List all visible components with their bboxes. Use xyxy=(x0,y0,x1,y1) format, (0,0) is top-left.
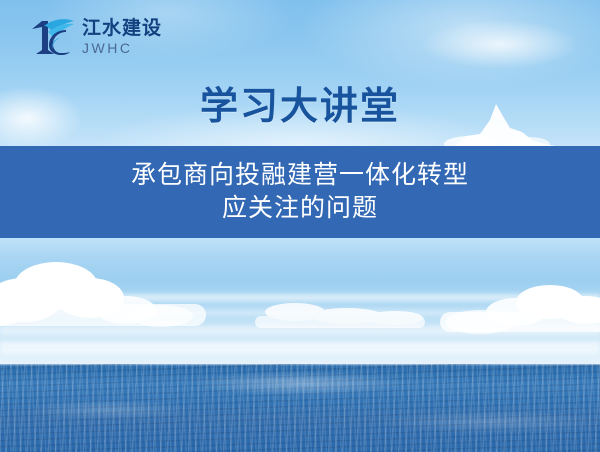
lower-sky-background xyxy=(0,238,600,364)
water-sun-glint xyxy=(0,364,600,452)
subtitle-banner: 承包商向投融建营一体化转型 应关注的问题 xyxy=(0,146,600,238)
slide-canvas: 江水建设 JWHC 学习大讲堂 承包商向投融建营一体化转型 应关注的问题 xyxy=(0,0,600,452)
subtitle-line-2: 应关注的问题 xyxy=(222,192,378,225)
ocean-background xyxy=(0,364,600,452)
logo-company-name-en: JWHC xyxy=(82,41,162,55)
wave-swoosh-one-icon xyxy=(30,16,76,58)
logo-company-name-cn: 江水建设 xyxy=(82,19,162,38)
cumulus-cloud-center xyxy=(255,298,425,343)
cloud-wisp-top-right xyxy=(380,6,580,76)
logo-wordmark: 江水建设 JWHC xyxy=(82,19,162,55)
subtitle-line-1: 承包商向投融建营一体化转型 xyxy=(131,159,469,192)
cumulus-cloud-right xyxy=(420,280,600,355)
cumulus-cloud-left xyxy=(0,256,216,351)
page-title: 学习大讲堂 xyxy=(0,75,600,130)
jwhc-logo: 江水建设 JWHC xyxy=(30,16,162,58)
